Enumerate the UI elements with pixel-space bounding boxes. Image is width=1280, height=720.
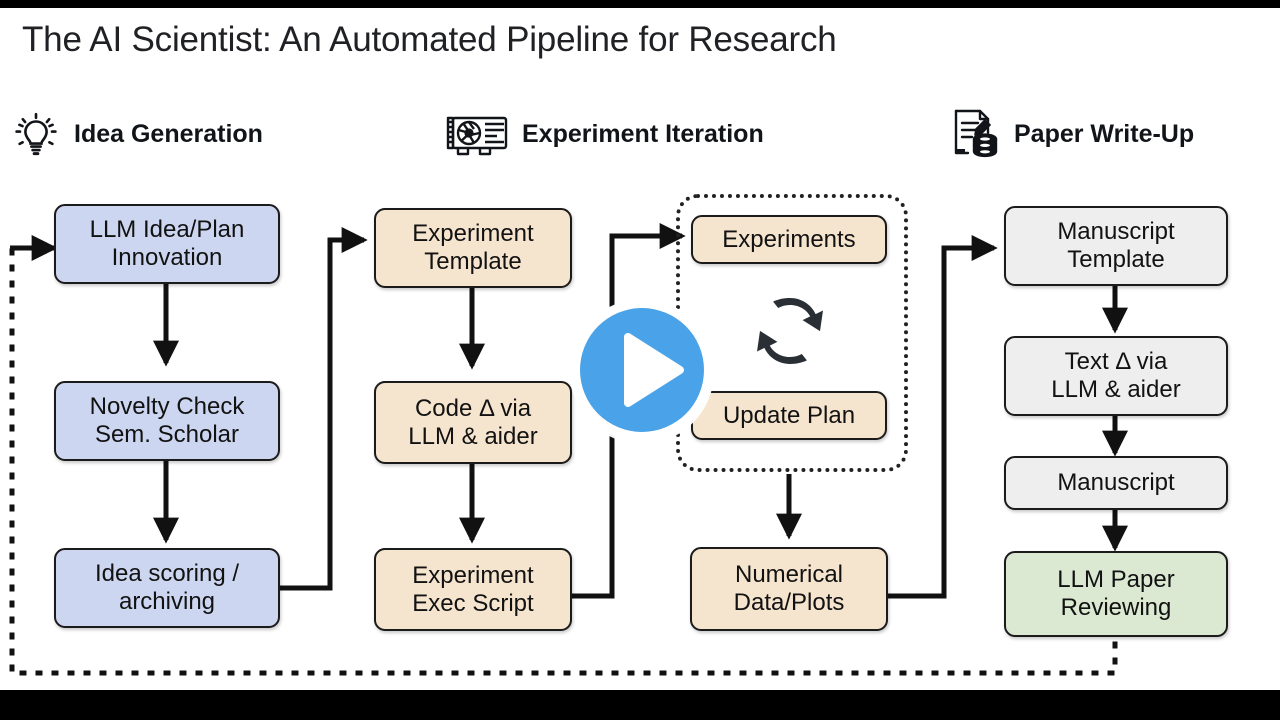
node-idea-scoring-archiving[interactable]: Idea scoring / archiving (54, 548, 280, 628)
node-manuscript[interactable]: Manuscript (1004, 456, 1228, 510)
slide-canvas: The AI Scientist: An Automated Pipeline … (0, 8, 1280, 690)
node-line-2: Exec Script (412, 590, 533, 617)
node-line-1: Experiment (412, 220, 533, 247)
node-line-1: Numerical (735, 561, 843, 588)
node-llm-paper-reviewing[interactable]: LLM Paper Reviewing (1004, 551, 1228, 637)
node-line-1: Code Δ via (415, 395, 531, 422)
node-experiment-exec-script[interactable]: Experiment Exec Script (374, 548, 572, 631)
node-line-1: Update Plan (723, 402, 855, 430)
node-line-1: Manuscript (1057, 469, 1174, 497)
node-numerical-data-plots[interactable]: Numerical Data/Plots (690, 547, 888, 631)
node-manuscript-template[interactable]: Manuscript Template (1004, 206, 1228, 286)
node-line-2: Template (424, 248, 521, 275)
node-line-1: LLM Idea/Plan (90, 216, 245, 243)
node-code-delta-via-llm-aider[interactable]: Code Δ via LLM & aider (374, 381, 572, 464)
node-line-1: Experiment (412, 562, 533, 589)
node-text-delta-via-llm-aider[interactable]: Text Δ via LLM & aider (1004, 336, 1228, 416)
letterbox-top (0, 0, 1280, 8)
node-line-2: Sem. Scholar (95, 421, 239, 448)
node-llm-idea-plan-innovation[interactable]: LLM Idea/Plan Innovation (54, 204, 280, 284)
node-line-1: Idea scoring / (95, 560, 239, 587)
node-line-1: Text Δ via (1065, 348, 1168, 375)
node-line-2: Reviewing (1061, 594, 1172, 621)
wire-scoring-to-template (280, 240, 364, 588)
node-line-2: Innovation (112, 244, 223, 271)
play-button[interactable] (562, 290, 722, 450)
node-novelty-check-sem-scholar[interactable]: Novelty Check Sem. Scholar (54, 381, 280, 461)
letterbox-bottom (0, 690, 1280, 720)
node-line-2: archiving (119, 588, 215, 615)
node-line-2: Template (1067, 246, 1164, 273)
node-line-1: LLM Paper (1057, 566, 1174, 593)
node-experiments[interactable]: Experiments (691, 215, 887, 264)
node-line-2: LLM & aider (408, 423, 537, 450)
node-line-2: Data/Plots (734, 589, 845, 616)
node-experiment-template[interactable]: Experiment Template (374, 208, 572, 288)
node-line-1: Experiments (722, 226, 855, 254)
video-player[interactable]: The AI Scientist: An Automated Pipeline … (0, 0, 1280, 720)
node-line-2: LLM & aider (1051, 376, 1180, 403)
refresh-cycle-icon (744, 292, 836, 370)
node-line-1: Manuscript (1057, 218, 1174, 245)
node-line-1: Novelty Check (90, 393, 245, 420)
